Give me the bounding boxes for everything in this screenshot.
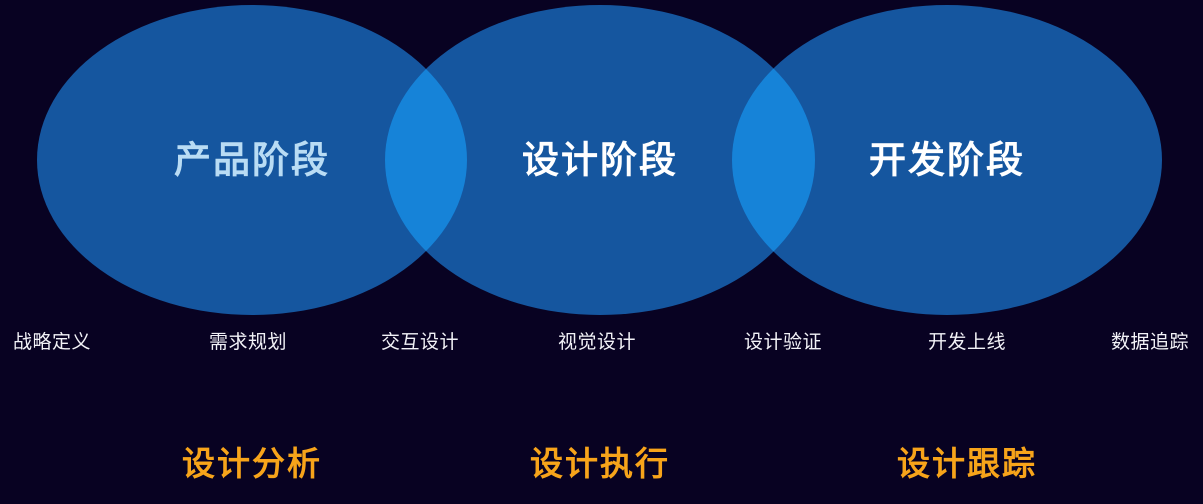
stage-label-data-tracking: 数据追踪 bbox=[1111, 333, 1189, 352]
phase-label-design-execution: 设计执行 bbox=[530, 447, 670, 480]
stage-label-requirement-planning: 需求规划 bbox=[209, 333, 287, 352]
stage-label-design-validation: 设计验证 bbox=[744, 333, 822, 352]
stage-label-strategy-definition: 战略定义 bbox=[13, 333, 91, 352]
circle-title-design: 设计阶段 bbox=[522, 142, 678, 179]
venn-circles-group bbox=[0, 0, 1203, 504]
stage-label-development-launch: 开发上线 bbox=[928, 333, 1006, 352]
stage-label-visual-design: 视觉设计 bbox=[558, 333, 636, 352]
circle-title-product: 产品阶段 bbox=[174, 142, 330, 179]
venn-diagram-canvas: 产品阶段 设计阶段 开发阶段 战略定义 需求规划 交互设计 视觉设计 设计验证 … bbox=[0, 0, 1203, 504]
stage-label-interaction-design: 交互设计 bbox=[381, 333, 459, 352]
circle-title-development: 开发阶段 bbox=[869, 142, 1025, 179]
phase-label-design-analysis: 设计分析 bbox=[182, 447, 322, 480]
phase-label-design-tracking: 设计跟踪 bbox=[897, 447, 1037, 480]
